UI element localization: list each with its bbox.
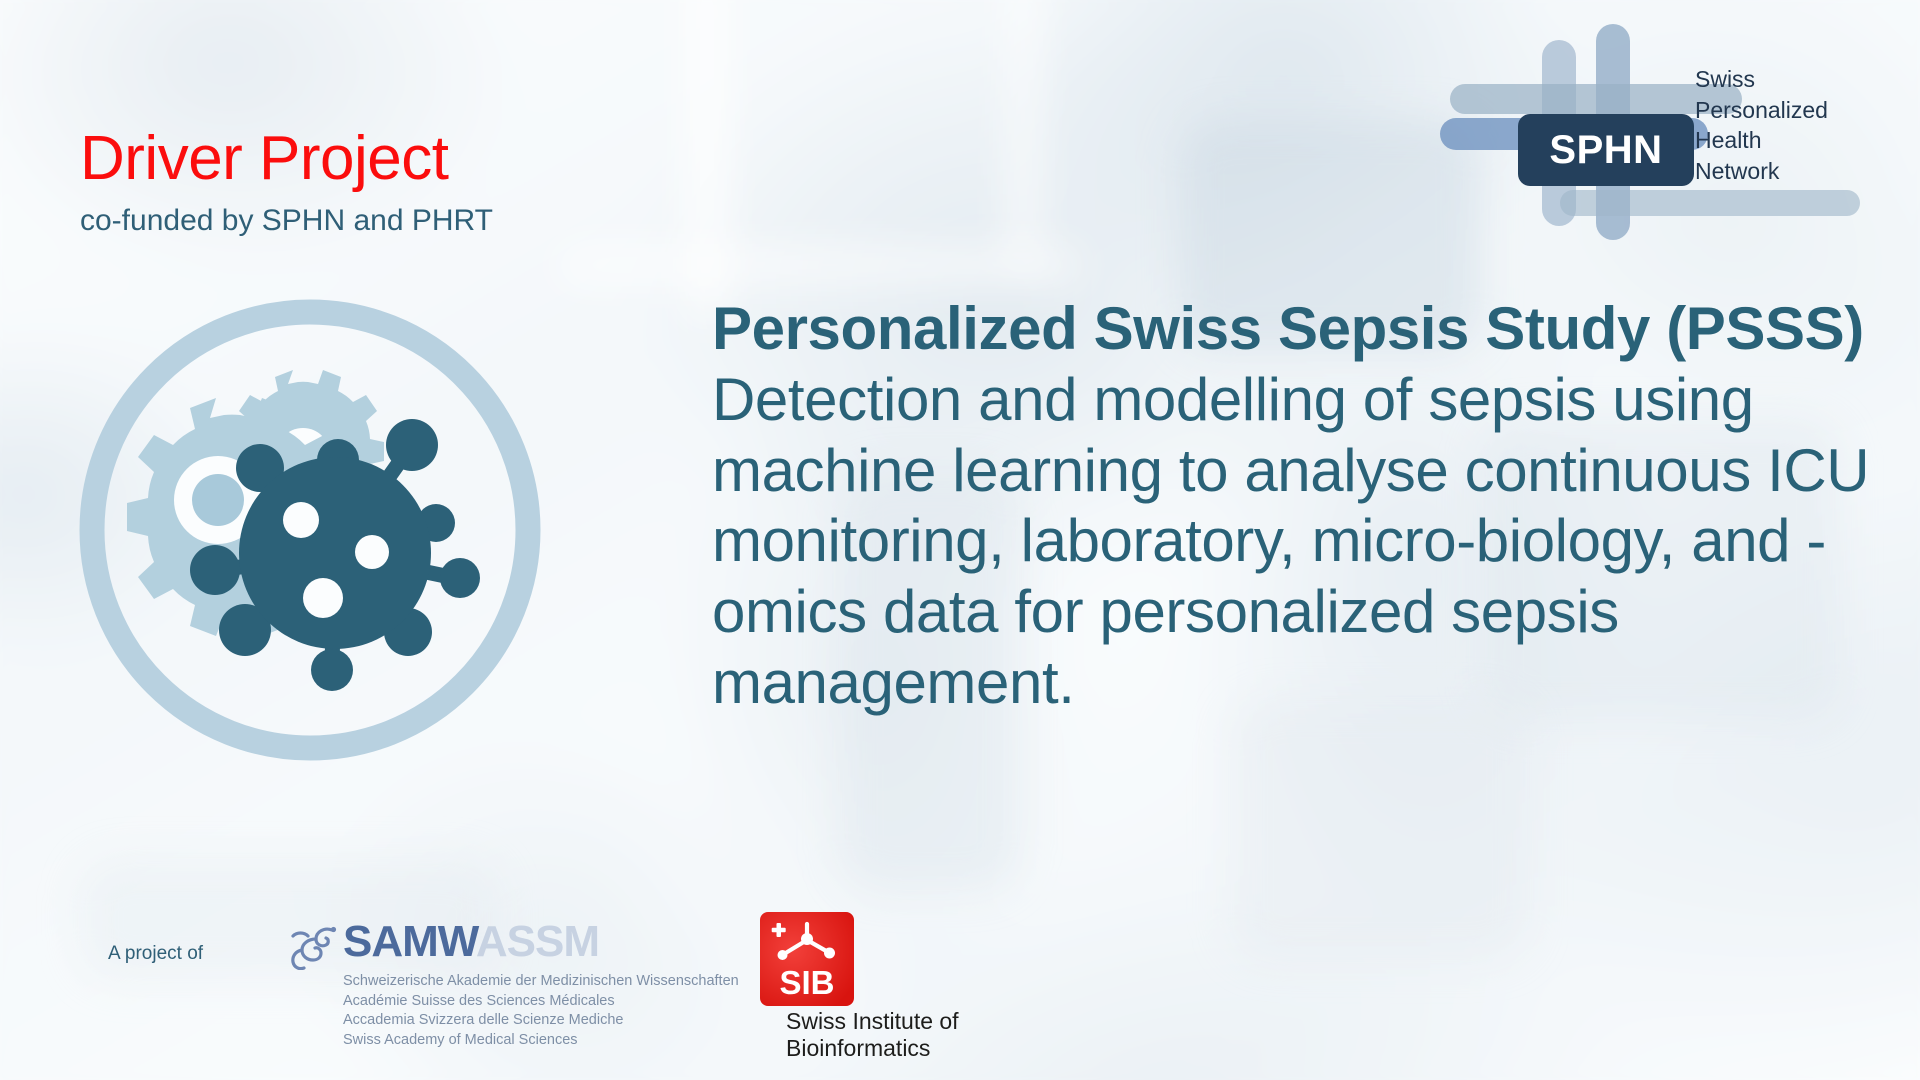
slide-root: Driver Project co-funded by SPHN and PHR… xyxy=(0,0,1920,1080)
samw-subtitle-line: Accademia Svizzera delle Scienze Mediche xyxy=(343,1011,739,1031)
sphn-wordmark: Swiss Personalized Health Network xyxy=(1695,64,1828,186)
project-description: Personalized Swiss Sepsis Study (PSSS) D… xyxy=(712,294,1892,719)
samw-word-secondary: ASSM xyxy=(476,917,599,966)
sphn-wordmark-line: Swiss xyxy=(1695,64,1828,95)
project-description-rest: Detection and modelling of sepsis using … xyxy=(712,366,1869,716)
headline-block: Driver Project co-funded by SPHN and PHR… xyxy=(80,128,493,236)
sphn-wordmark-line: Personalized xyxy=(1695,95,1828,126)
sphn-wordmark-line: Network xyxy=(1695,156,1828,187)
sib-name: Swiss Institute of Bioinformatics xyxy=(786,1008,959,1061)
samw-subtitle-line: Swiss Academy of Medical Sciences xyxy=(343,1031,739,1051)
a-project-of-label: A project of xyxy=(108,943,203,965)
samw-word-primary: SAMW xyxy=(343,917,476,966)
samw-subtitle: Schweizerische Akademie der Medizinische… xyxy=(343,972,739,1050)
sphn-wordmark-line: Health xyxy=(1695,125,1828,156)
logo-bar-horizontal-lower xyxy=(1560,190,1860,216)
serpent-eye xyxy=(331,927,336,932)
samw-subtitle-line: Académie Suisse des Sciences Médicales xyxy=(343,992,739,1012)
page-title: Driver Project xyxy=(80,128,493,190)
virus-and-gears-svg xyxy=(60,280,560,780)
virus-body xyxy=(239,457,431,649)
footer: A project of SAMWASSM Schweizerische Aka… xyxy=(0,920,1920,1080)
sib-name-line: Bioinformatics xyxy=(786,1035,959,1062)
project-description-bold: Personalized Swiss Sepsis Study (PSSS) xyxy=(712,295,1864,362)
sphn-logo: SPHN Swiss Personalized Health Network xyxy=(1440,22,1900,242)
sib-logo-mark: SIB xyxy=(760,912,854,1006)
sphn-badge: SPHN xyxy=(1518,114,1694,186)
virus-and-gears-icon xyxy=(60,280,560,780)
sib-mark-label: SIB xyxy=(779,964,834,1001)
page-subtitle: co-funded by SPHN and PHRT xyxy=(80,206,493,236)
sib-name-line: Swiss Institute of xyxy=(786,1008,959,1035)
sphn-badge-label: SPHN xyxy=(1549,130,1662,170)
big-gear-hole-inner xyxy=(192,474,244,526)
samw-wordmark: SAMWASSM xyxy=(343,920,599,964)
samw-subtitle-line: Schweizerische Akademie der Medizinische… xyxy=(343,972,739,992)
serpent-icon xyxy=(288,924,340,970)
